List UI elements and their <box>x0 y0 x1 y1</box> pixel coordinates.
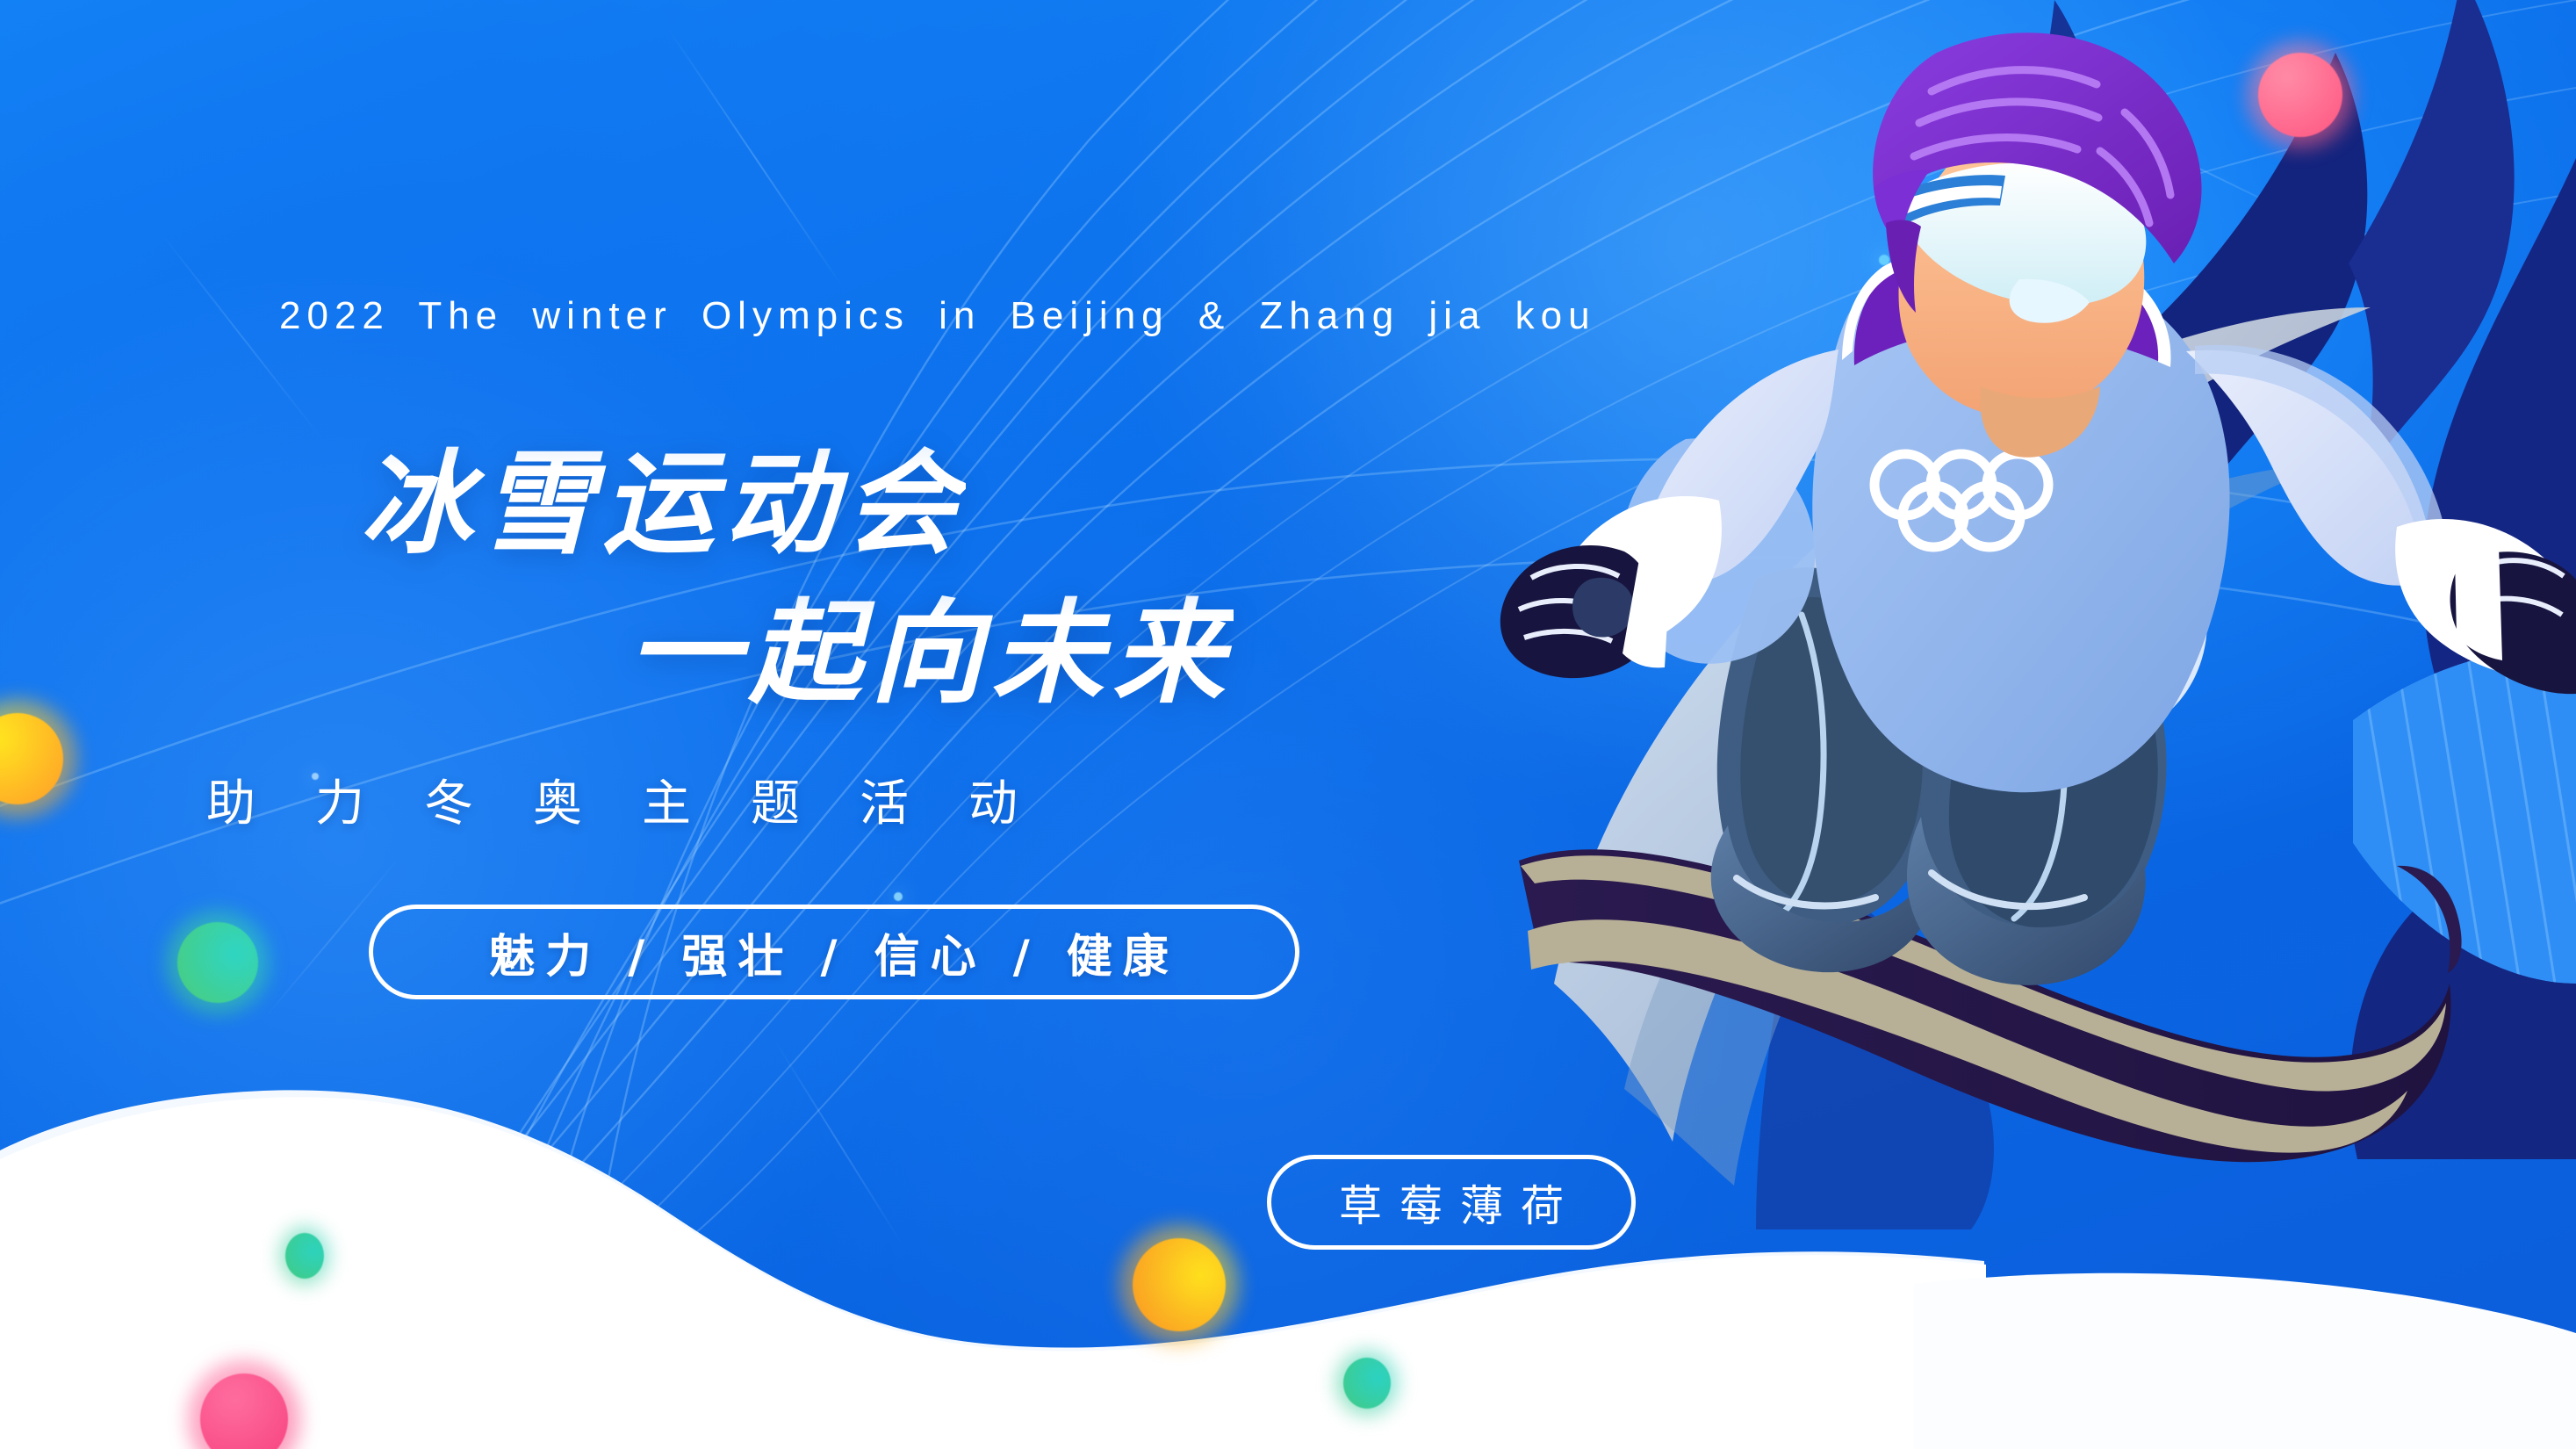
sparkle-dot <box>1879 255 1889 265</box>
silver-swoosh-arc <box>1554 307 2371 1186</box>
brand-badge-button[interactable]: 草莓薄荷 <box>1267 1155 1636 1250</box>
keywords-pill-button[interactable]: 魅力 / 强壮 / 信心 / 健康 <box>369 905 1299 999</box>
winter-olympics-poster: 2022 The winter Olympics in Beijing & Zh… <box>0 0 2576 1449</box>
navy-backdrop-shapes <box>1756 0 2576 1229</box>
keywords-pill-label: 魅力 / 强壮 / 信心 / 健康 <box>489 919 1179 985</box>
striped-band <box>2353 648 2576 984</box>
orb-pink-top-right <box>2258 53 2342 137</box>
main-title-line-2: 一起向未来 <box>628 562 1234 724</box>
legs-and-boots <box>1711 567 2167 985</box>
subtitle-text: 助力冬奥主题活动 <box>206 764 1077 835</box>
snowboarder-illustration <box>1493 0 2576 1229</box>
right-arm <box>2186 345 2576 694</box>
shoulder-shape <box>1620 438 1815 664</box>
torso <box>1812 240 2229 793</box>
eyebrow-headline: 2022 The winter Olympics in Beijing & Zh… <box>279 294 1596 338</box>
main-title-line-1: 冰雪运动会 <box>360 413 966 575</box>
brand-badge-label: 草莓薄荷 <box>1321 1171 1581 1234</box>
olympic-rings <box>1874 454 2048 547</box>
sparkle-dot <box>2327 1133 2335 1142</box>
hip-highlight <box>1990 492 2207 742</box>
snowboard <box>1519 849 2462 1162</box>
head <box>1873 32 2201 458</box>
